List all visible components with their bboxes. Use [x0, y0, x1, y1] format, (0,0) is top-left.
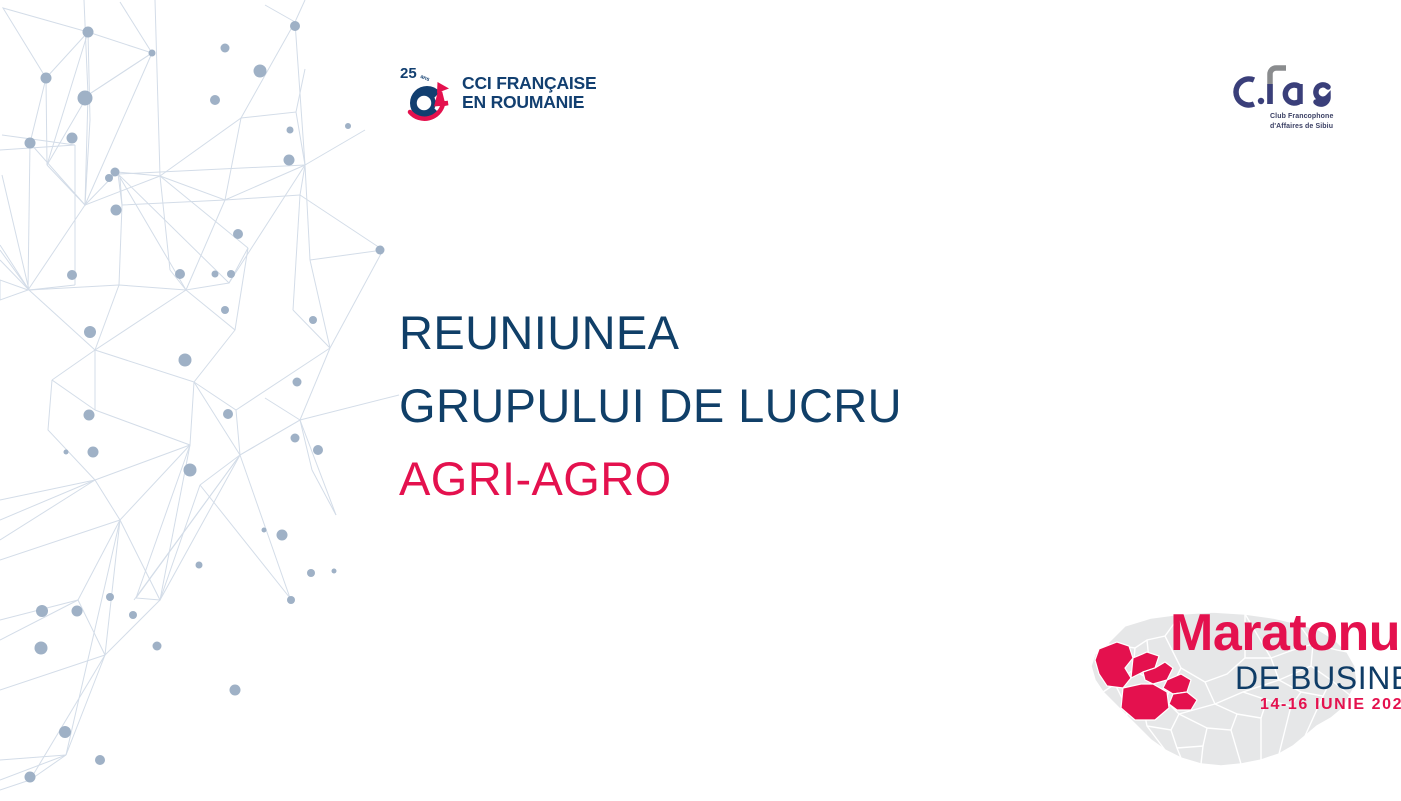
presentation-slide: 25 ans CCI FRANÇAISE EN ROUMANIE	[0, 0, 1401, 801]
title-line-3: AGRI-AGRO	[399, 442, 1019, 515]
maratonul-de-business-logo: Maratonul DE BUSINESS 14-16 IUNIE 2022	[1055, 596, 1401, 801]
title-line-2: GRUPULUI DE LUCRU	[399, 369, 1019, 442]
maratonul-subtitle: DE BUSINESS	[1235, 660, 1401, 696]
cfas-subtitle-line2: d'Affaires de Sibiu	[1270, 122, 1333, 132]
svg-text:ans: ans	[419, 74, 430, 83]
cfas-logo: Club Francophone d'Affaires de Sibiu	[1228, 60, 1340, 138]
cci-francaise-logo: 25 ans CCI FRANÇAISE EN ROUMANIE	[396, 62, 571, 124]
slide-title: REUNIUNEA GRUPULUI DE LUCRU AGRI-AGRO	[399, 296, 1019, 515]
cci-logo-line2: EN ROUMANIE	[462, 93, 597, 112]
maratonul-dates: 14-16 IUNIE 2022	[1260, 695, 1401, 714]
cci-logo-mark: 25 ans	[396, 62, 458, 124]
maratonul-wordmark: Maratonul	[1170, 605, 1401, 661]
cfas-subtitle: Club Francophone d'Affaires de Sibiu	[1270, 112, 1333, 131]
cci-logo-text: CCI FRANÇAISE EN ROUMANIE	[462, 74, 597, 112]
title-line-1: REUNIUNEA	[399, 296, 1019, 369]
cfas-subtitle-line1: Club Francophone	[1270, 112, 1333, 122]
cfas-wordmark	[1228, 60, 1340, 110]
cci-logo-line1: CCI FRANÇAISE	[462, 74, 597, 93]
network-background-graphic	[0, 0, 420, 801]
svg-text:25: 25	[400, 65, 417, 82]
